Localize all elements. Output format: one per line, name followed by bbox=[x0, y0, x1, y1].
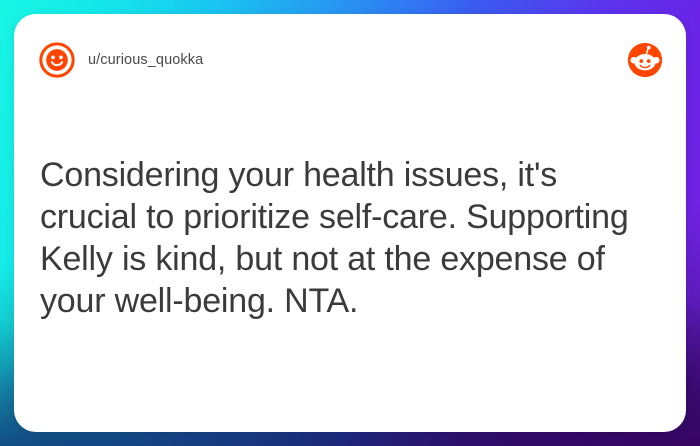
screenshot-stage: u/curious_quokka bbox=[0, 0, 700, 446]
card-body: Considering your health issues, it's cru… bbox=[40, 154, 660, 322]
author-username: u/curious_quokka bbox=[88, 52, 203, 68]
quote-card: u/curious_quokka bbox=[14, 14, 686, 432]
author-block[interactable]: u/curious_quokka bbox=[38, 41, 626, 79]
reddit-snoo-logo-icon[interactable] bbox=[626, 41, 664, 79]
quote-text: Considering your health issues, it's cru… bbox=[40, 154, 660, 322]
smiley-face-avatar-icon bbox=[38, 41, 76, 79]
card-header: u/curious_quokka bbox=[14, 14, 686, 106]
